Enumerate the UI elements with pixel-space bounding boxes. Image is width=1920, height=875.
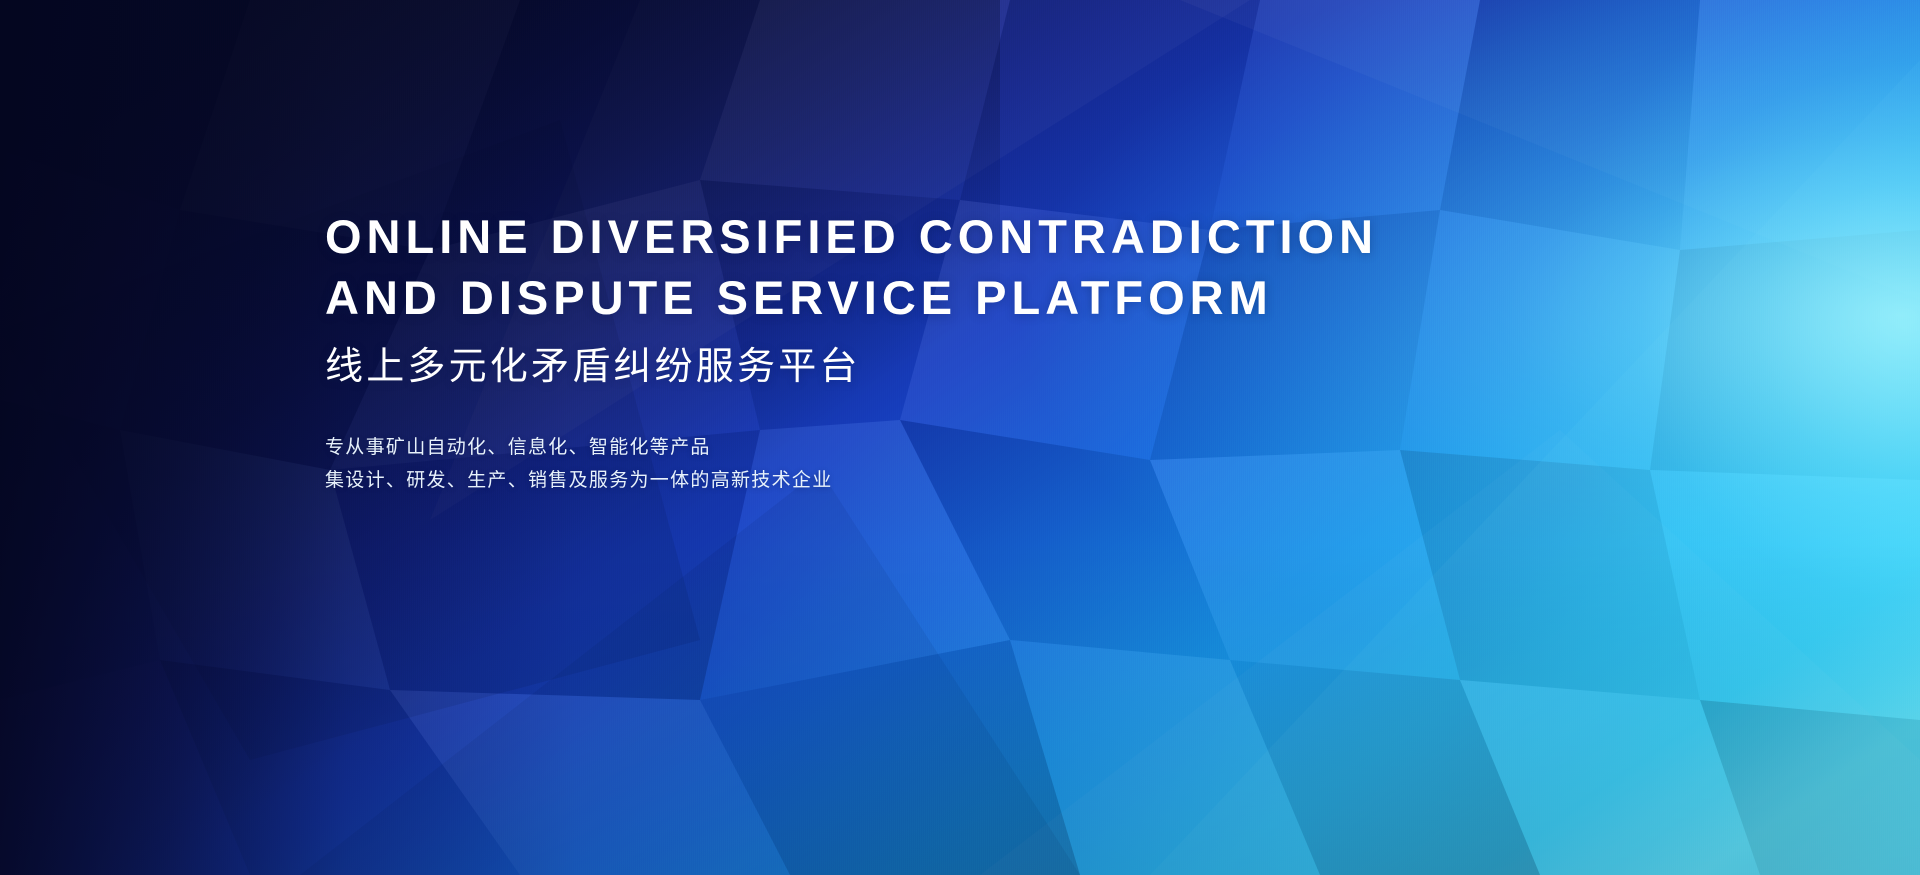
hero-text-block: ONLINE DIVERSIFIED CONTRADICTION AND DIS… bbox=[325, 206, 1575, 497]
hero-banner: ONLINE DIVERSIFIED CONTRADICTION AND DIS… bbox=[0, 0, 1920, 875]
hero-description-line-2: 集设计、研发、生产、销售及服务为一体的高新技术企业 bbox=[325, 464, 1575, 497]
hero-subtitle-chinese: 线上多元化矛盾纠纷服务平台 bbox=[325, 343, 1575, 389]
hero-headline-line-1: ONLINE DIVERSIFIED CONTRADICTION bbox=[325, 206, 1575, 267]
hero-description-line-1: 专从事矿山自动化、信息化、智能化等产品 bbox=[325, 431, 1575, 464]
hero-description: 专从事矿山自动化、信息化、智能化等产品 集设计、研发、生产、销售及服务为一体的高… bbox=[325, 431, 1575, 497]
hero-headline-line-2: AND DISPUTE SERVICE PLATFORM bbox=[325, 267, 1575, 328]
hero-headline: ONLINE DIVERSIFIED CONTRADICTION AND DIS… bbox=[325, 206, 1575, 328]
